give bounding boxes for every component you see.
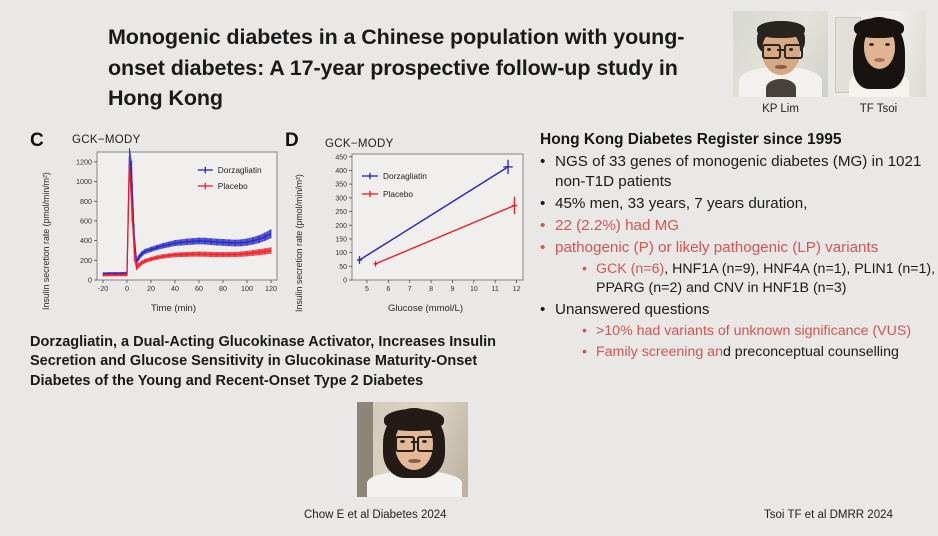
svg-text:Placebo: Placebo <box>218 181 248 191</box>
panel-c-xlabel: Time (min) <box>66 303 281 314</box>
bullet-item: •pathogenic (P) or likely pathogenic (LP… <box>540 238 936 258</box>
svg-text:200: 200 <box>80 256 92 265</box>
svg-text:1000: 1000 <box>76 177 92 186</box>
right-column: Hong Kong Diabetes Register since 1995 •… <box>540 130 936 361</box>
panel-c-title: GCK−MODY <box>72 134 141 146</box>
chart-panel-c: C GCK−MODY Insulin secretion rate (pmol/… <box>28 128 283 318</box>
figure-caption: Dorzagliatin, a Dual-Acting Glucokinase … <box>30 333 510 391</box>
panel-d-ylabel: Insulin secretion rate (pmol/min/m²) <box>294 174 304 312</box>
svg-text:120: 120 <box>265 284 277 293</box>
bullet-text: >10% had variants of unknown significanc… <box>596 322 936 341</box>
panel-c-ylabel: Insulin secretion rate (pmol/min/m²) <box>41 172 51 310</box>
svg-text:6: 6 <box>386 286 390 293</box>
svg-text:80: 80 <box>219 284 227 293</box>
panel-d-letter: D <box>285 130 299 152</box>
bullet-text: GCK (n=6), HNF1A (n=9), HNF4A (n=1), PLI… <box>596 260 936 297</box>
bullet-marker: • <box>540 238 555 258</box>
svg-text:1200: 1200 <box>76 157 92 166</box>
bullet-marker: • <box>582 260 596 297</box>
bullet-text: pathogenic (P) or likely pathogenic (LP)… <box>555 238 936 258</box>
bullet-list: •NGS of 33 genes of monogenic diabetes (… <box>540 152 936 361</box>
svg-text:400: 400 <box>80 236 92 245</box>
svg-text:100: 100 <box>335 250 347 257</box>
slide-root: Monogenic diabetes in a Chinese populati… <box>0 0 938 536</box>
bullet-marker: • <box>540 194 555 214</box>
svg-text:0: 0 <box>125 284 129 293</box>
svg-text:60: 60 <box>195 284 203 293</box>
headshot-tf-tsoi: TF Tsoi <box>831 11 926 115</box>
svg-text:400: 400 <box>335 168 347 175</box>
page-title: Monogenic diabetes in a Chinese populati… <box>108 22 708 114</box>
credit-left: Chow E et al Diabetes 2024 <box>304 509 447 521</box>
bullet-item: •NGS of 33 genes of monogenic diabetes (… <box>540 152 936 192</box>
svg-text:5: 5 <box>365 286 369 293</box>
bullet-text-red: Family screening an <box>596 344 723 360</box>
right-column-heading: Hong Kong Diabetes Register since 1995 <box>540 130 936 150</box>
svg-text:Dorzagliatin: Dorzagliatin <box>383 171 427 181</box>
panel-d-title: GCK−MODY <box>325 138 394 150</box>
bullet-marker: • <box>582 322 596 341</box>
bullet-item: •>10% had variants of unknown significan… <box>582 322 936 341</box>
bullet-marker: • <box>582 343 596 362</box>
figure-block: C GCK−MODY Insulin secretion rate (pmol/… <box>28 128 533 318</box>
svg-text:350: 350 <box>335 182 347 189</box>
svg-text:300: 300 <box>335 195 347 202</box>
bullet-text-red: GCK (n=6) <box>596 261 664 277</box>
bullet-item: • Family screening and preconceptual cou… <box>582 343 936 362</box>
svg-text:Dorzagliatin: Dorzagliatin <box>218 165 262 175</box>
svg-text:200: 200 <box>335 223 347 230</box>
svg-text:0: 0 <box>88 276 92 285</box>
svg-text:9: 9 <box>451 286 455 293</box>
headshot-group: KP Lim TF Tsoi <box>733 11 926 115</box>
bullet-item: •GCK (n=6), HNF1A (n=9), HNF4A (n=1), PL… <box>582 260 936 297</box>
svg-text:50: 50 <box>339 264 347 271</box>
bullet-marker: • <box>540 300 555 320</box>
chart-panel-d: D GCK−MODY Insulin secretion rate (pmol/… <box>283 128 533 318</box>
panel-c-letter: C <box>30 130 44 152</box>
svg-text:450: 450 <box>335 154 347 161</box>
bullet-text: 45% men, 33 years, 7 years duration, <box>555 194 936 214</box>
svg-text:250: 250 <box>335 209 347 216</box>
bullet-text-black: d preconceptual counselling <box>723 344 899 360</box>
svg-text:800: 800 <box>80 197 92 206</box>
bullet-item: •22 (2.2%) had MG <box>540 216 936 236</box>
bullet-marker: • <box>540 216 555 236</box>
panel-c-plot: -20020406080100120020040060080010001200D… <box>66 148 281 296</box>
svg-text:12: 12 <box>513 286 521 293</box>
bullet-text: 22 (2.2%) had MG <box>555 216 936 236</box>
panel-d-plot: 56789101112050100150200250300350400450Do… <box>323 150 528 296</box>
bullet-text: Unanswered questions <box>555 300 936 320</box>
headshot-kp-lim-photo <box>733 11 828 97</box>
headshot-kp-lim: KP Lim <box>733 11 828 115</box>
panel-d-xlabel: Glucose (mmol/L) <box>323 303 528 314</box>
svg-text:8: 8 <box>429 286 433 293</box>
headshot-kp-lim-label: KP Lim <box>762 103 799 115</box>
svg-text:10: 10 <box>470 286 478 293</box>
svg-text:600: 600 <box>80 217 92 226</box>
headshot-tf-tsoi-photo <box>831 11 926 97</box>
svg-text:100: 100 <box>241 284 253 293</box>
svg-text:150: 150 <box>335 237 347 244</box>
bullet-item: •Unanswered questions <box>540 300 936 320</box>
svg-text:20: 20 <box>147 284 155 293</box>
svg-text:40: 40 <box>171 284 179 293</box>
svg-text:0: 0 <box>343 278 347 285</box>
bullet-marker: • <box>540 152 555 192</box>
svg-text:11: 11 <box>492 286 499 293</box>
bullet-text: NGS of 33 genes of monogenic diabetes (M… <box>555 152 936 192</box>
svg-text:7: 7 <box>408 286 412 293</box>
svg-text:-20: -20 <box>98 284 108 293</box>
bullet-text: Family screening and preconceptual couns… <box>596 343 936 362</box>
credit-right: Tsoi TF et al DMRR 2024 <box>764 509 893 521</box>
headshot-tf-tsoi-label: TF Tsoi <box>860 103 898 115</box>
headshot-chow-e-photo <box>357 402 468 497</box>
svg-text:Placebo: Placebo <box>383 189 413 199</box>
bullet-item: •45% men, 33 years, 7 years duration, <box>540 194 936 214</box>
